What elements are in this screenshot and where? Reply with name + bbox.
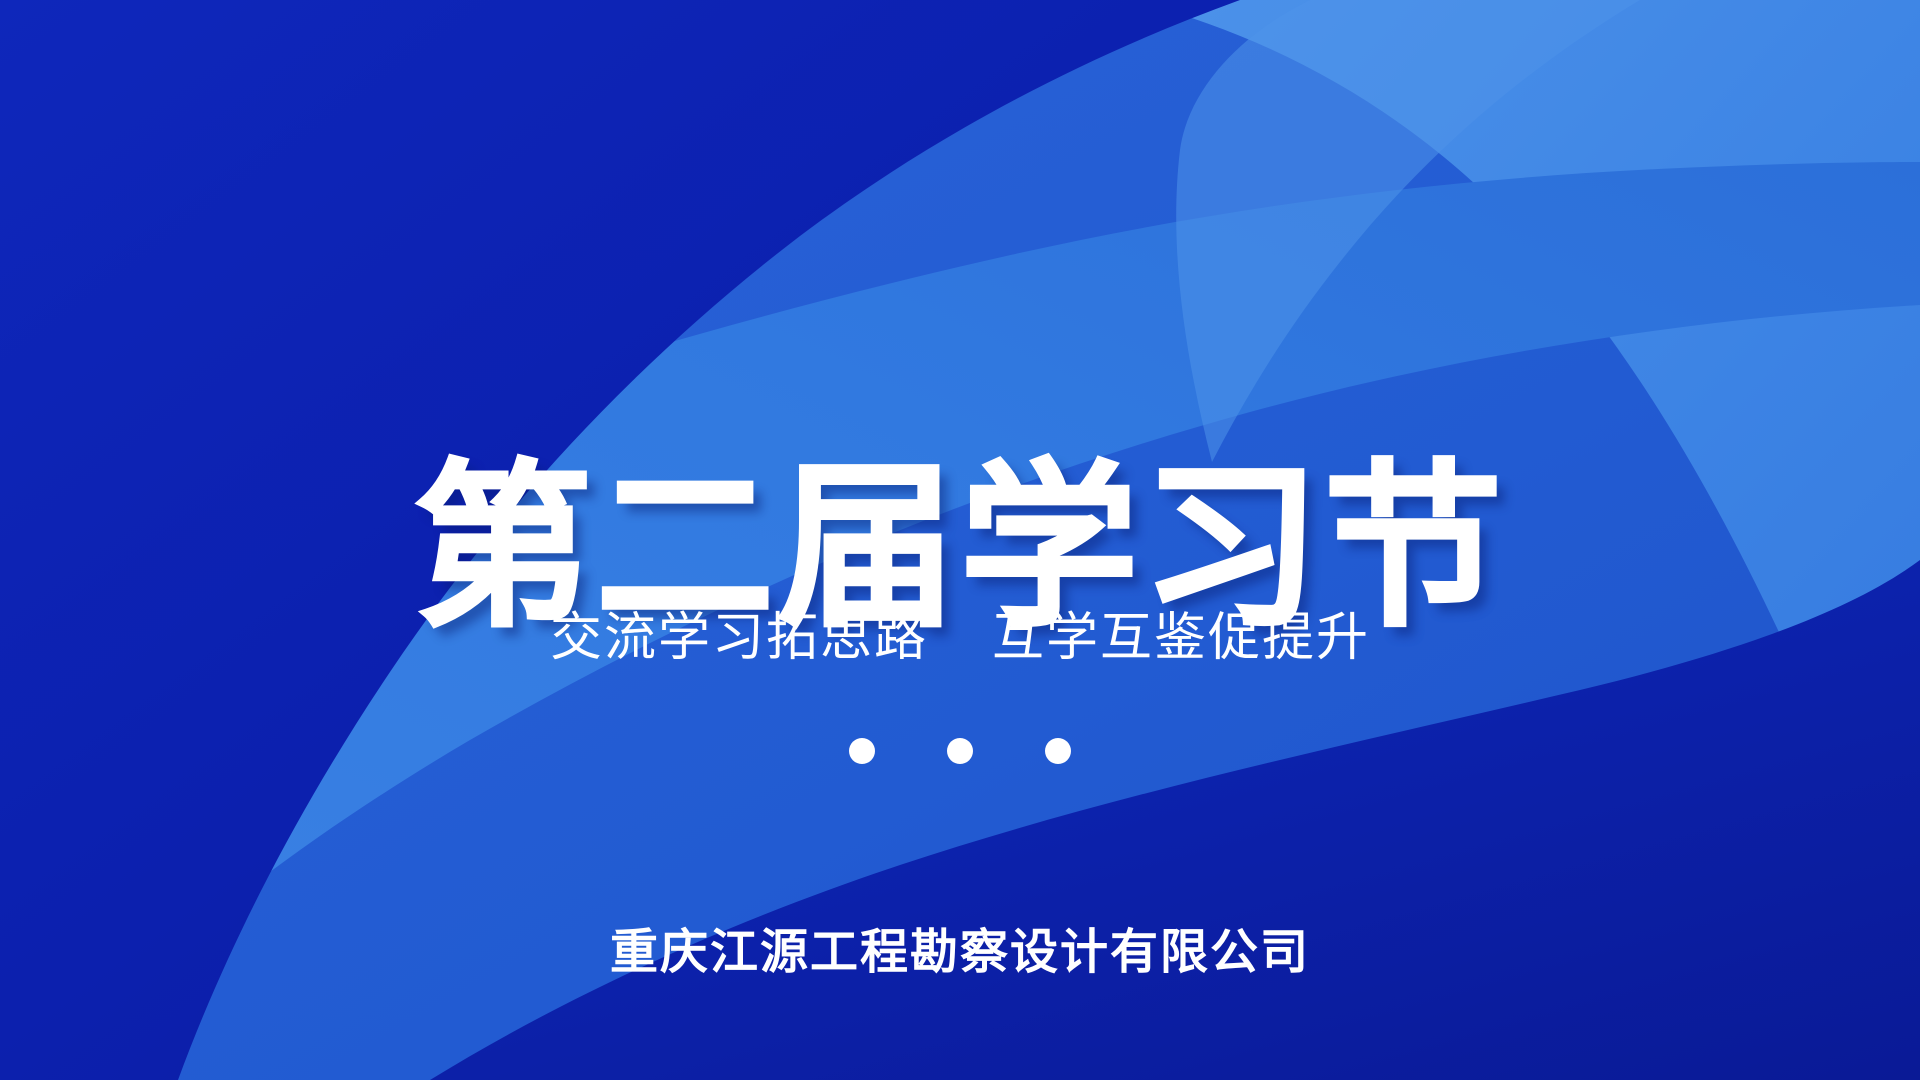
subtitle-left: 交流学习拓思路 — [550, 609, 928, 667]
company-name: 重庆江源工程勘察设计有限公司 — [0, 912, 1920, 982]
decorative-dots — [0, 738, 1920, 764]
dot-icon — [849, 738, 875, 764]
dot-icon — [947, 738, 973, 764]
subtitle-right: 互学互鉴促提升 — [992, 609, 1370, 667]
subtitle-line: 交流学习拓思路互学互鉴促提升 — [0, 606, 1920, 671]
poster-content: 第二届学习节 交流学习拓思路互学互鉴促提升 重庆江源工程勘察设计有限公司 — [0, 0, 1920, 1080]
poster-canvas: 第二届学习节 交流学习拓思路互学互鉴促提升 重庆江源工程勘察设计有限公司 — [0, 0, 1920, 1080]
dot-icon — [1045, 738, 1071, 764]
